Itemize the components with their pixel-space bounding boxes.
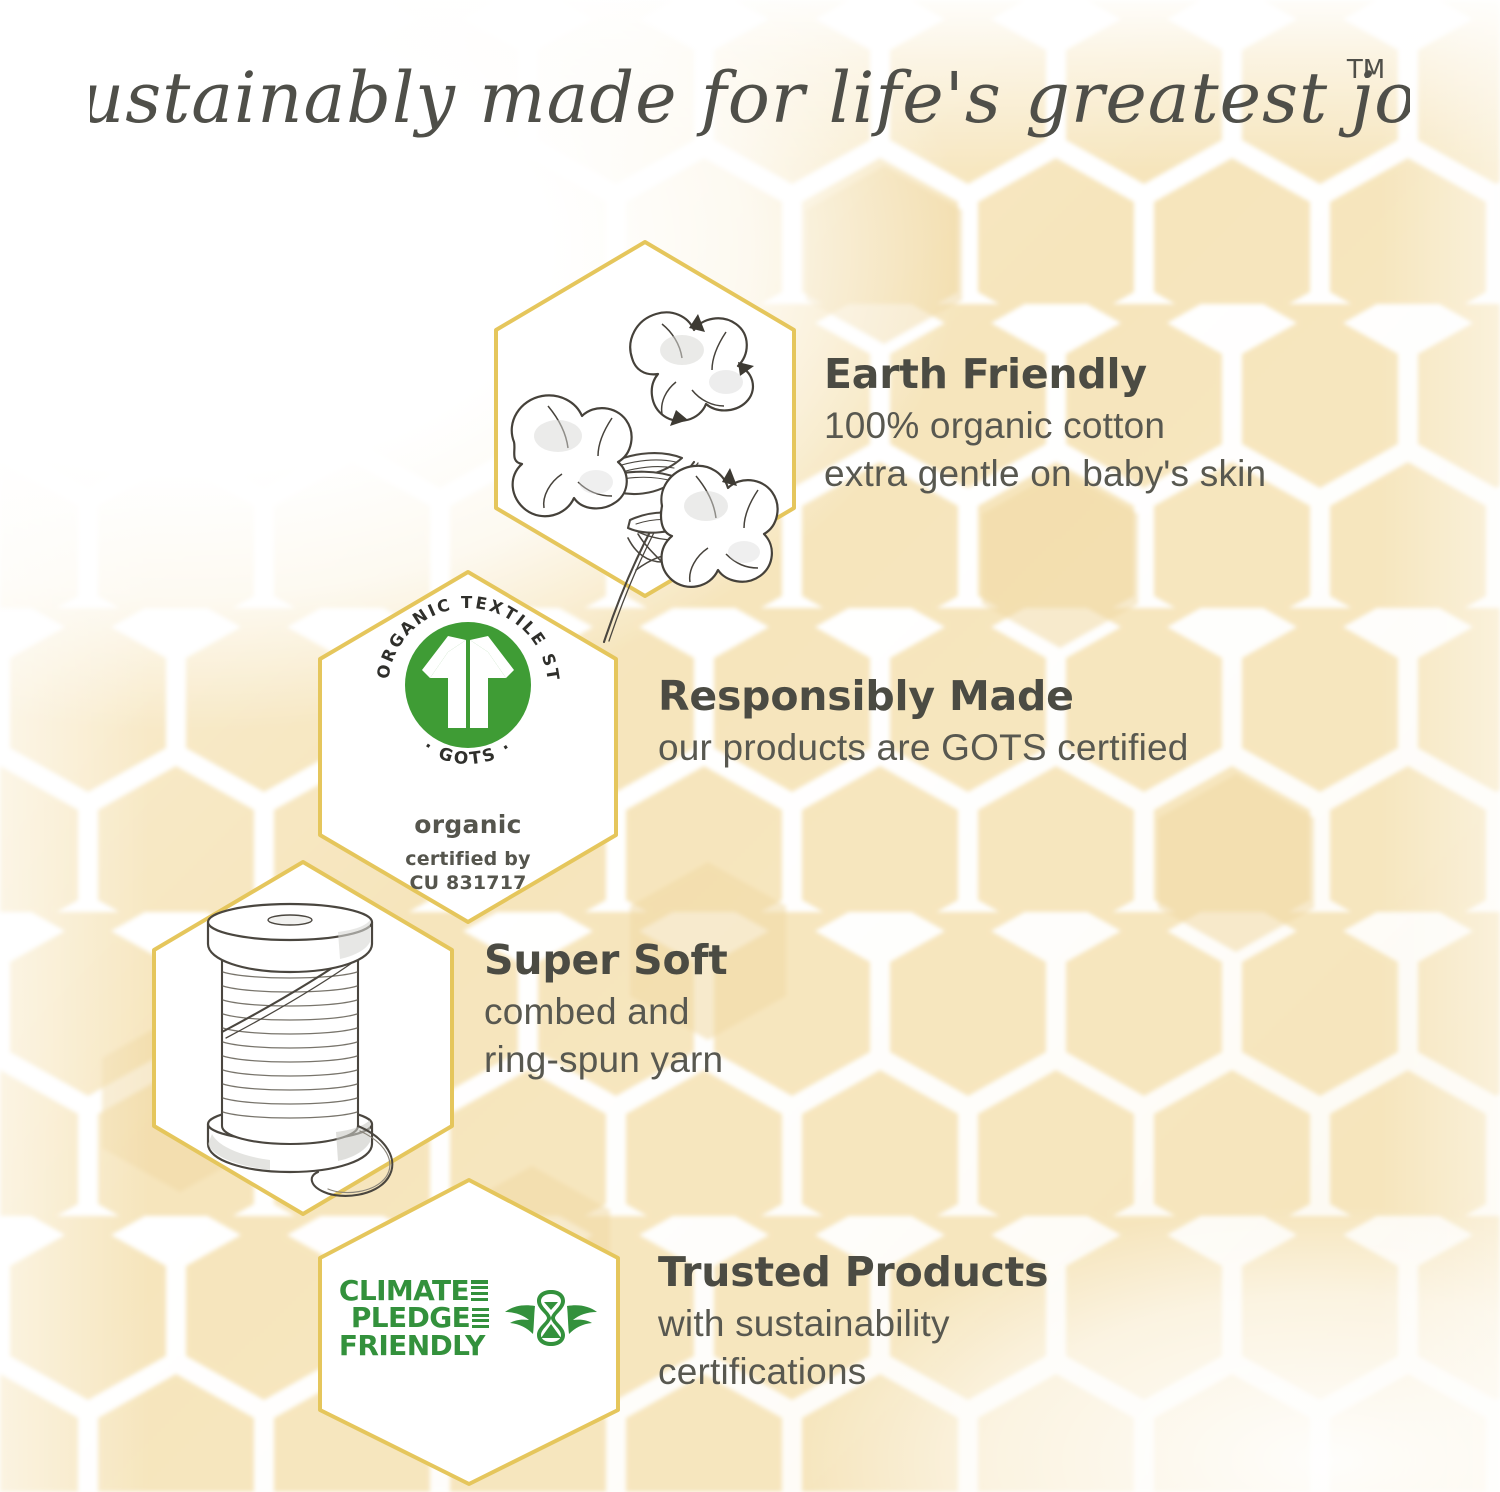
- cpf-line-3: FRIENDLY: [339, 1332, 485, 1359]
- climate-pledge-friendly-logo: CLIMATE PLEDGE FRIENDLY: [339, 1277, 599, 1359]
- cotton-boll-bottom: [661, 466, 778, 587]
- feature-line: with sustainability: [658, 1300, 1278, 1348]
- feature-title: Earth Friendly: [824, 352, 1464, 398]
- feature-text-responsibly-made: Responsibly Made our products are GOTS c…: [658, 674, 1458, 772]
- cpf-line-1: CLIMATE: [339, 1277, 469, 1304]
- feature-hex-earth-friendly: [488, 238, 802, 600]
- winged-hourglass-icon: [503, 1282, 599, 1354]
- cotton-boll-left: [512, 395, 632, 516]
- cotton-illustration-holder: [488, 238, 802, 600]
- thread-spool-illustration: [160, 888, 460, 1218]
- cpf-line-2: PLEDGE: [351, 1304, 470, 1331]
- feature-text-trusted-products: Trusted Products with sustainability cer…: [658, 1250, 1278, 1396]
- feature-line: 100% organic cotton: [824, 402, 1464, 450]
- feature-hex-trusted-products: CLIMATE PLEDGE FRIENDLY: [312, 1176, 626, 1488]
- feature-line: our products are GOTS certified: [658, 724, 1458, 772]
- gots-green-circle: [405, 622, 531, 748]
- gots-certification-logo: GLOBAL ORGANIC TEXTILE STANDARD · GOTS ·: [362, 582, 574, 794]
- feature-hex-super-soft: [146, 858, 460, 1218]
- feature-line: ring-spun yarn: [484, 1036, 1104, 1084]
- feature-text-super-soft: Super Soft combed and ring-spun yarn: [484, 938, 1104, 1084]
- cpf-wordmark: CLIMATE PLEDGE FRIENDLY: [339, 1277, 489, 1359]
- climate-pledge-logo-holder: CLIMATE PLEDGE FRIENDLY: [312, 1176, 626, 1488]
- feature-title: Trusted Products: [658, 1250, 1278, 1296]
- cpf-bars-icon: [472, 1308, 489, 1328]
- feature-title: Super Soft: [484, 938, 1104, 984]
- infographic-canvas: sustainably made for life's greatest joy…: [0, 0, 1500, 1492]
- feature-line: certifications: [658, 1348, 1278, 1396]
- feature-line: combed and: [484, 988, 1104, 1036]
- feature-title: Responsibly Made: [658, 674, 1458, 720]
- thread-spool-holder: [146, 858, 460, 1218]
- cotton-boll-top: [630, 312, 754, 426]
- feature-line: extra gentle on baby's skin: [824, 450, 1464, 498]
- feature-text-earth-friendly: Earth Friendly 100% organic cotton extra…: [824, 352, 1464, 498]
- cpf-bars-icon: [471, 1280, 488, 1300]
- gots-caption-organic: organic: [414, 810, 522, 839]
